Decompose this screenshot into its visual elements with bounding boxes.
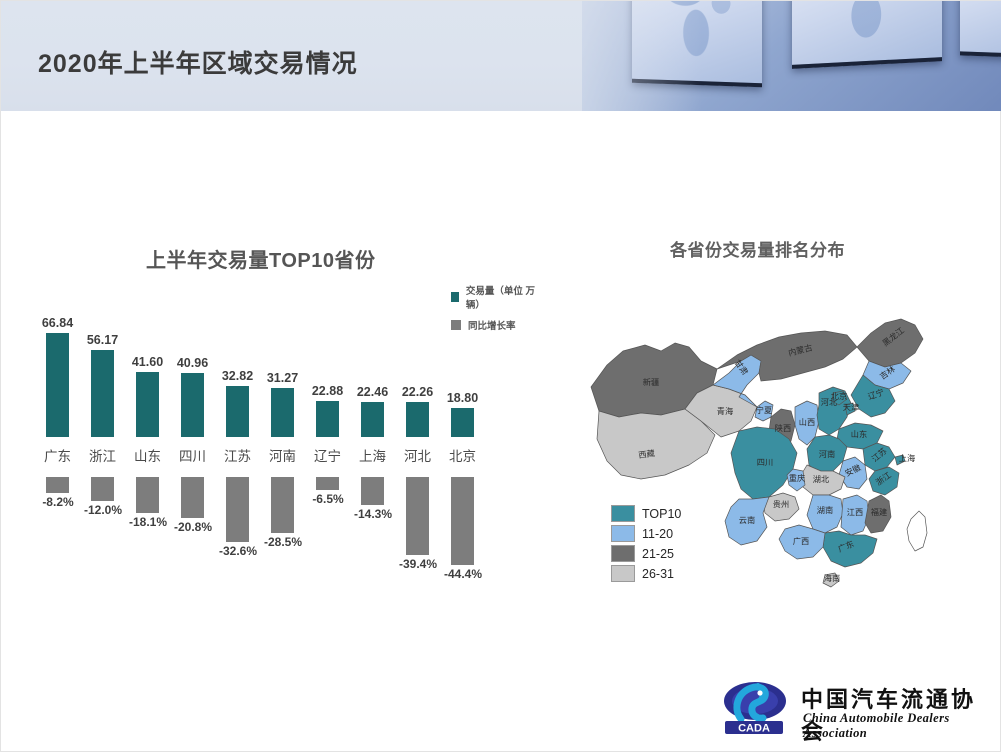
header-art-fade xyxy=(582,1,702,111)
category-label: 四川 xyxy=(170,445,215,465)
chart-column: 22.46上海-14.3% xyxy=(350,325,395,585)
chart-column: 22.88辽宁-6.5% xyxy=(305,325,350,585)
chart-column: 56.17浙江-12.0% xyxy=(80,325,125,585)
logo-abbr-text: CADA xyxy=(738,722,770,734)
map-legend-item: TOP10 xyxy=(611,505,681,522)
map-legend-swatch xyxy=(611,505,635,522)
category-label: 广东 xyxy=(35,445,80,465)
map-legend-swatch xyxy=(611,525,635,542)
map-province-label: 海南 xyxy=(824,573,840,583)
logo-name-en: China Automobile Dealers Association xyxy=(803,711,981,741)
chart-column: 22.26河北-39.4% xyxy=(395,325,440,585)
category-label: 上海 xyxy=(350,445,395,465)
volume-value-label: 40.96 xyxy=(170,356,215,370)
map-province-label: 上海 xyxy=(899,453,915,463)
map-legend-label: 21-25 xyxy=(642,547,674,561)
growth-value-label: -14.3% xyxy=(343,507,403,521)
growth-value-label: -20.8% xyxy=(163,520,223,534)
chart-title: 上半年交易量TOP10省份 xyxy=(146,244,376,273)
growth-bar[interactable] xyxy=(316,477,339,490)
legend-item-volume: 交易量（单位 万辆） xyxy=(451,283,535,311)
bar-chart: 交易量（单位 万辆） 同比增长率 66.84广东-8.2%56.17浙江-12.… xyxy=(35,301,535,601)
volume-value-label: 22.46 xyxy=(350,385,395,399)
volume-bar[interactable] xyxy=(136,372,159,437)
map-legend-swatch xyxy=(611,565,635,582)
map-province-label: 福建 xyxy=(871,507,887,517)
map-province-label: 湖北 xyxy=(813,475,829,484)
legend-swatch-volume xyxy=(451,292,459,302)
growth-bar[interactable] xyxy=(46,477,69,493)
growth-value-label: -44.4% xyxy=(433,567,493,581)
map-province-label: 天津 xyxy=(843,402,859,412)
map-legend-item: 11-20 xyxy=(611,525,681,542)
map-province-label: 青海 xyxy=(717,406,733,416)
map-province-label: 河南 xyxy=(819,449,835,459)
map-province-label: 陕西 xyxy=(775,423,791,433)
map-title: 各省份交易量排名分布 xyxy=(670,236,845,261)
volume-bar[interactable] xyxy=(271,388,294,437)
volume-bar[interactable] xyxy=(46,333,69,437)
growth-bar[interactable] xyxy=(271,477,294,533)
map-legend-label: 26-31 xyxy=(642,567,674,581)
category-label: 浙江 xyxy=(80,445,125,465)
legend-label-volume: 交易量（单位 万辆） xyxy=(466,283,535,311)
map-province-西藏[interactable] xyxy=(597,409,715,479)
category-label: 江苏 xyxy=(215,445,260,465)
map-province-label: 湖南 xyxy=(817,505,833,515)
growth-bar[interactable] xyxy=(136,477,159,513)
volume-bar[interactable] xyxy=(226,386,249,437)
growth-bar[interactable] xyxy=(361,477,384,505)
volume-value-label: 56.17 xyxy=(80,333,125,347)
map-province-label: 山东 xyxy=(851,429,867,439)
growth-bar[interactable] xyxy=(451,477,474,565)
map-province-label: 四川 xyxy=(757,458,773,467)
volume-bar[interactable] xyxy=(361,402,384,437)
slide-header: 2020年上半年区域交易情况 xyxy=(1,1,1001,111)
china-choropleth-map: 新疆西藏青海甘肃内蒙古黑龙江吉林辽宁宁夏陕西山西河北北京天津山东河南江苏安徽上海… xyxy=(589,289,989,594)
map-province-label: 北京 xyxy=(831,391,847,401)
map-province-label: 新疆 xyxy=(643,377,659,387)
growth-bar[interactable] xyxy=(91,477,114,501)
volume-bar[interactable] xyxy=(406,402,429,437)
world-map-icon xyxy=(813,1,924,53)
growth-value-label: -6.5% xyxy=(298,492,358,506)
volume-value-label: 22.88 xyxy=(305,384,350,398)
volume-value-label: 18.80 xyxy=(440,391,485,405)
chart-column: 31.27河南-28.5% xyxy=(260,325,305,585)
volume-bar[interactable] xyxy=(451,408,474,437)
chart-column: 18.80北京-44.4% xyxy=(440,325,485,585)
map-legend: TOP1011-2021-2526-31 xyxy=(611,505,681,585)
map-island-outline xyxy=(907,511,927,551)
volume-bar[interactable] xyxy=(316,401,339,437)
category-label: 辽宁 xyxy=(305,445,350,465)
map-province-label: 贵州 xyxy=(773,499,789,509)
map-province-label: 山西 xyxy=(799,417,815,427)
chart-column: 41.60山东-18.1% xyxy=(125,325,170,585)
category-label: 北京 xyxy=(440,445,485,465)
map-legend-swatch xyxy=(611,545,635,562)
map-province-label: 江西 xyxy=(847,508,863,517)
growth-bar[interactable] xyxy=(406,477,429,555)
map-legend-item: 21-25 xyxy=(611,545,681,562)
volume-value-label: 31.27 xyxy=(260,371,305,385)
map-legend-label: 11-20 xyxy=(642,527,673,541)
growth-bar[interactable] xyxy=(226,477,249,542)
category-label: 河南 xyxy=(260,445,305,465)
header-decorative-graphic xyxy=(582,1,1001,111)
map-province-label: 宁夏 xyxy=(756,405,772,415)
volume-value-label: 32.82 xyxy=(215,369,260,383)
map-province-label: 广西 xyxy=(793,536,809,546)
map-legend-label: TOP10 xyxy=(642,507,681,521)
volume-value-label: 41.60 xyxy=(125,355,170,369)
cube-icon xyxy=(792,1,942,69)
category-label: 山东 xyxy=(125,445,170,465)
map-legend-item: 26-31 xyxy=(611,565,681,582)
cube-icon xyxy=(960,1,1001,59)
volume-value-label: 66.84 xyxy=(35,316,80,330)
map-province-label: 重庆 xyxy=(789,473,805,483)
growth-value-label: -28.5% xyxy=(253,535,313,549)
page-title: 2020年上半年区域交易情况 xyxy=(38,44,358,80)
volume-bar[interactable] xyxy=(181,373,204,437)
cada-logo: CADA 中国汽车流通协会 China Automobile Dealers A… xyxy=(719,677,981,739)
chart-column: 66.84广东-8.2% xyxy=(35,325,80,585)
volume-bar[interactable] xyxy=(91,350,114,437)
volume-value-label: 22.26 xyxy=(395,385,440,399)
category-label: 河北 xyxy=(395,445,440,465)
cada-logo-icon: CADA xyxy=(719,679,795,735)
growth-bar[interactable] xyxy=(181,477,204,518)
chart-plot-area: 66.84广东-8.2%56.17浙江-12.0%41.60山东-18.1%40… xyxy=(35,325,505,585)
map-province-label: 云南 xyxy=(739,515,755,525)
